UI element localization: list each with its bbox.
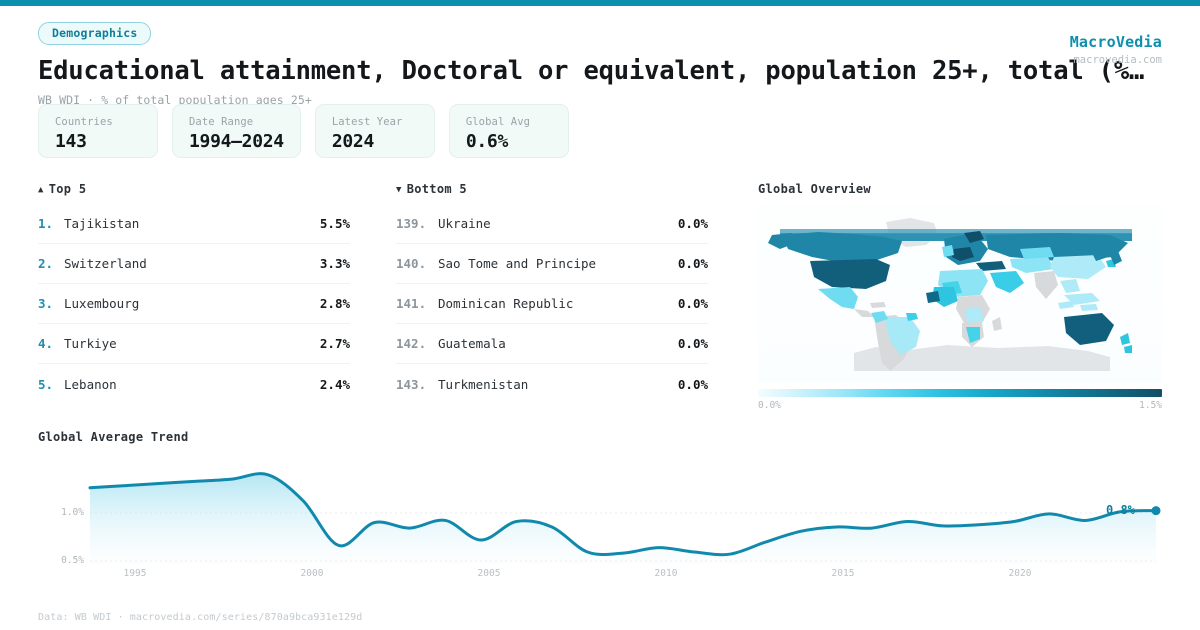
row-country: Sao Tome and Principe bbox=[438, 256, 678, 271]
top5-heading: ▲Top 5 bbox=[38, 182, 350, 196]
map-colorbar bbox=[758, 389, 1162, 397]
row-value: 2.7% bbox=[320, 336, 350, 351]
stat-label: Date Range bbox=[189, 116, 284, 128]
row-value: 3.3% bbox=[320, 256, 350, 271]
row-country: Lebanon bbox=[64, 377, 320, 392]
footer-source: Data: WB WDI · macrovedia.com/series/870… bbox=[38, 612, 362, 623]
stat-label: Global Avg bbox=[466, 116, 552, 128]
triangle-up-icon: ▲ bbox=[38, 185, 44, 195]
x-tick-2020: 2020 bbox=[993, 568, 1047, 579]
stat-value: 143 bbox=[55, 131, 141, 152]
row-rank: 3. bbox=[38, 296, 64, 311]
stat-card-countries: Countries 143 bbox=[38, 104, 158, 158]
row-country: Tajikistan bbox=[64, 216, 320, 231]
page-title: Educational attainment, Doctoral or equi… bbox=[38, 56, 1162, 86]
global-overview-panel: Global Overview bbox=[758, 182, 1162, 411]
world-map-svg bbox=[758, 205, 1162, 383]
x-tick-2005: 2005 bbox=[462, 568, 516, 579]
trend-chart: 1.0% 0.5% 1995 2000 2005 2010 2015 2020 … bbox=[38, 456, 1162, 588]
row-country: Turkiye bbox=[64, 336, 320, 351]
top-accent-bar bbox=[0, 0, 1200, 6]
row-value: 0.0% bbox=[678, 377, 708, 392]
table-row: 2. Switzerland 3.3% bbox=[38, 244, 350, 284]
map-colorbar-labels: 0.0% 1.5% bbox=[758, 400, 1162, 411]
row-rank: 141. bbox=[396, 296, 438, 311]
row-rank: 139. bbox=[396, 216, 438, 231]
row-rank: 4. bbox=[38, 336, 64, 351]
stat-label: Latest Year bbox=[332, 116, 418, 128]
world-map bbox=[758, 205, 1162, 383]
table-row: 5. Lebanon 2.4% bbox=[38, 364, 350, 404]
brand: MacroVedia macrovedia.com bbox=[1070, 33, 1162, 66]
table-row: 3. Luxembourg 2.8% bbox=[38, 284, 350, 324]
x-tick-2000: 2000 bbox=[285, 568, 339, 579]
table-row: 4. Turkiye 2.7% bbox=[38, 324, 350, 364]
row-rank: 1. bbox=[38, 216, 64, 231]
bottom5-heading: ▼Bottom 5 bbox=[396, 182, 708, 196]
top5-heading-label: Top 5 bbox=[49, 182, 87, 196]
stat-card-latest-year: Latest Year 2024 bbox=[315, 104, 435, 158]
row-value: 0.0% bbox=[678, 296, 708, 311]
row-country: Dominican Republic bbox=[438, 296, 678, 311]
row-value: 0.0% bbox=[678, 256, 708, 271]
x-tick-2015: 2015 bbox=[816, 568, 870, 579]
brand-url: macrovedia.com bbox=[1070, 54, 1162, 66]
row-rank: 142. bbox=[396, 336, 438, 351]
row-value: 0.0% bbox=[678, 336, 708, 351]
bottom5-heading-label: Bottom 5 bbox=[407, 182, 467, 196]
trend-plot-group bbox=[90, 474, 1161, 564]
bottom5-panel: ▼Bottom 5 139. Ukraine 0.0% 140. Sao Tom… bbox=[396, 182, 708, 404]
row-country: Guatemala bbox=[438, 336, 678, 351]
header: Demographics Educational attainment, Doc… bbox=[38, 22, 1162, 107]
stat-card-date-range: Date Range 1994—2024 bbox=[172, 104, 301, 158]
table-row: 141. Dominican Republic 0.0% bbox=[396, 284, 708, 324]
top5-rows: 1. Tajikistan 5.5% 2. Switzerland 3.3% 3… bbox=[38, 204, 350, 404]
stat-card-global-avg: Global Avg 0.6% bbox=[449, 104, 569, 158]
row-value: 2.8% bbox=[320, 296, 350, 311]
row-country: Ukraine bbox=[438, 216, 678, 231]
table-row: 139. Ukraine 0.0% bbox=[396, 204, 708, 244]
bottom5-rows: 139. Ukraine 0.0% 140. Sao Tome and Prin… bbox=[396, 204, 708, 404]
row-country: Turkmenistan bbox=[438, 377, 678, 392]
row-value: 2.4% bbox=[320, 377, 350, 392]
colorbar-min-label: 0.0% bbox=[758, 400, 781, 411]
table-row: 1. Tajikistan 5.5% bbox=[38, 204, 350, 244]
y-tick-0: 0.5% bbox=[38, 555, 84, 566]
category-badge: Demographics bbox=[38, 22, 151, 45]
trend-end-label: 0.8% bbox=[1106, 503, 1135, 517]
trend-end-point bbox=[1152, 506, 1161, 515]
table-row: 140. Sao Tome and Principe 0.0% bbox=[396, 244, 708, 284]
row-value: 0.0% bbox=[678, 216, 708, 231]
trend-area bbox=[90, 474, 1156, 564]
map-heading: Global Overview bbox=[758, 182, 1162, 196]
x-tick-1995: 1995 bbox=[108, 568, 162, 579]
stat-value: 1994—2024 bbox=[189, 131, 284, 152]
stat-label: Countries bbox=[55, 116, 141, 128]
table-row: 143. Turkmenistan 0.0% bbox=[396, 364, 708, 404]
y-tick-1: 1.0% bbox=[38, 507, 84, 518]
infographic-page: Demographics Educational attainment, Doc… bbox=[0, 0, 1200, 630]
row-rank: 140. bbox=[396, 256, 438, 271]
row-rank: 5. bbox=[38, 377, 64, 392]
trend-heading: Global Average Trend bbox=[38, 430, 1162, 444]
stat-cards: Countries 143 Date Range 1994—2024 Lates… bbox=[38, 104, 569, 158]
top5-panel: ▲Top 5 1. Tajikistan 5.5% 2. Switzerland… bbox=[38, 182, 350, 404]
trend-panel: Global Average Trend 1.0% 0.5% 1995 2000 bbox=[38, 430, 1162, 588]
table-row: 142. Guatemala 0.0% bbox=[396, 324, 708, 364]
triangle-down-icon: ▼ bbox=[396, 185, 402, 195]
row-rank: 143. bbox=[396, 377, 438, 392]
stat-value: 2024 bbox=[332, 131, 418, 152]
brand-name: MacroVedia bbox=[1070, 33, 1162, 51]
row-country: Switzerland bbox=[64, 256, 320, 271]
row-country: Luxembourg bbox=[64, 296, 320, 311]
row-rank: 2. bbox=[38, 256, 64, 271]
row-value: 5.5% bbox=[320, 216, 350, 231]
x-tick-2010: 2010 bbox=[639, 568, 693, 579]
stat-value: 0.6% bbox=[466, 131, 552, 152]
colorbar-max-label: 1.5% bbox=[1139, 400, 1162, 411]
